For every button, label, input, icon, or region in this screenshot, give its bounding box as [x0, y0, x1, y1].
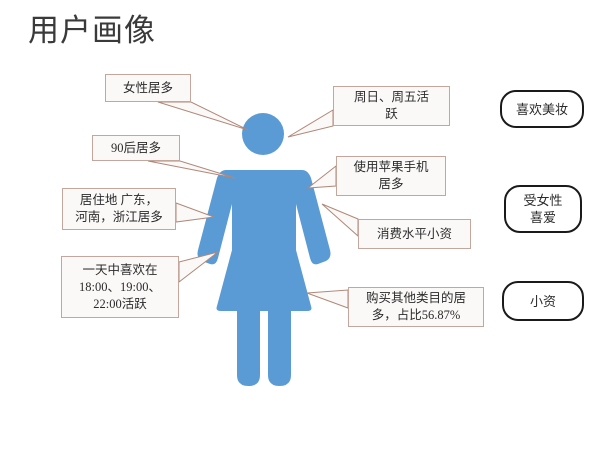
callout-age[interactable]: 90后居多: [92, 135, 180, 161]
pictogram-leg-right: [268, 311, 291, 386]
callout-text: 使用苹果手机居多: [341, 159, 441, 193]
callout-active-weekday[interactable]: 周日、周五活跃: [333, 86, 450, 126]
callout-text: 购买其他类目的居多，占比56.87%: [353, 290, 479, 324]
callout-text: 周日、周五活跃: [338, 89, 445, 123]
callout-text: 90后居多: [97, 140, 175, 157]
callout-text: 女性居多: [110, 80, 186, 97]
pictogram-leg-left: [237, 311, 260, 386]
pictogram-body: [198, 170, 331, 311]
callout-gender[interactable]: 女性居多: [105, 74, 191, 102]
pictogram-head: [242, 113, 284, 155]
callout-category[interactable]: 购买其他类目的居多，占比56.87%: [348, 287, 484, 327]
tag-text: 喜欢美妆: [502, 101, 582, 118]
callout-text: 一天中喜欢在18:00、19:00、22:00活跃: [66, 262, 174, 313]
callout-location[interactable]: 居住地 广东，河南，浙江居多: [62, 188, 176, 230]
page-title: 用户画像: [28, 11, 156, 51]
female-pictogram: [180, 100, 370, 395]
tag-liked-by-women[interactable]: 受女性喜爱: [504, 185, 582, 233]
callout-consumption[interactable]: 消费水平小资: [358, 219, 471, 249]
callout-device[interactable]: 使用苹果手机居多: [336, 156, 446, 196]
tag-text: 小资: [504, 293, 582, 310]
callout-text: 消费水平小资: [363, 226, 466, 243]
callout-active-time[interactable]: 一天中喜欢在18:00、19:00、22:00活跃: [61, 256, 179, 318]
callout-text: 居住地 广东，河南，浙江居多: [67, 192, 171, 226]
tag-petite-bourgeois[interactable]: 小资: [502, 281, 584, 321]
slide-canvas: 用户画像 女性居多 90后居多 居住地 广东，河南，浙江居多 一天中喜欢在18:…: [0, 0, 600, 455]
tag-text: 受女性喜爱: [506, 192, 580, 226]
tag-beauty[interactable]: 喜欢美妆: [500, 90, 584, 128]
